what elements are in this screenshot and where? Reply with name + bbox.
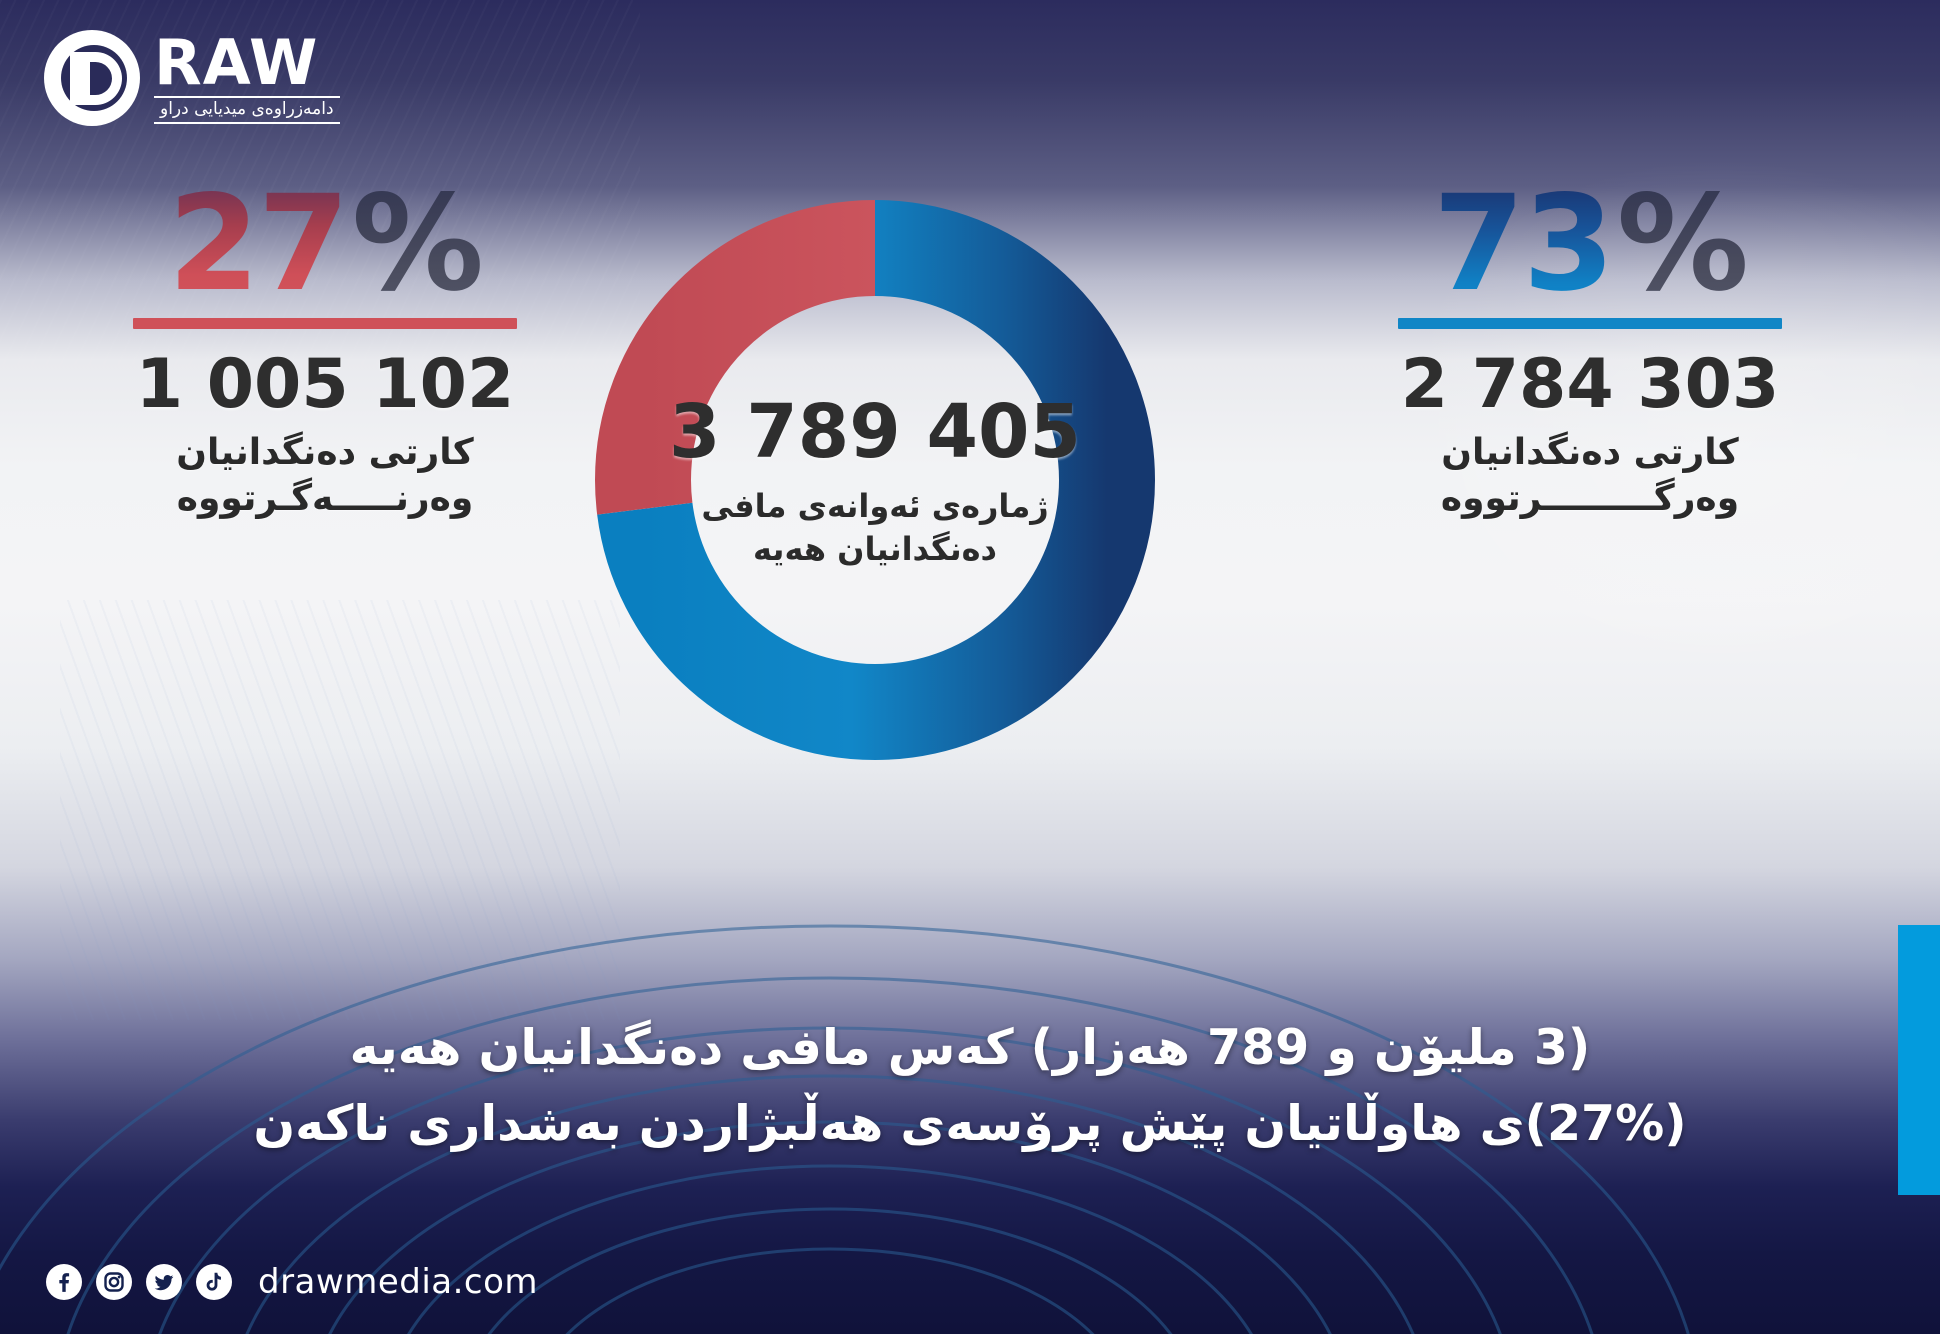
left-percent-sign: %: [352, 167, 482, 321]
donut-caption: ژمارەی ئەوانەی مافی دەنگدانیان هەیە: [701, 485, 1048, 571]
brand-subtitle: دامەزراوەی میدیایی دراو: [154, 96, 340, 123]
donut-center-label: 3 789 405 ژمارەی ئەوانەی مافی دەنگدانیان…: [585, 190, 1165, 770]
accent-bar: [1898, 925, 1940, 1195]
tiktok-icon[interactable]: [196, 1264, 232, 1300]
brand-logo: RAW دامەزراوەی میدیایی دراو: [44, 30, 340, 126]
right-caption: کارتی دەنگدانیان وەرگـــــــــرتووە: [1375, 430, 1805, 522]
stat-block-no-card: 27% 1 005 102 کارتی دەنگدانیان وەرنـــــ…: [110, 178, 540, 522]
donut-caption-line1: ژمارەی ئەوانەی مافی: [701, 487, 1048, 525]
footer: drawmedia.com: [46, 1262, 538, 1302]
website-url[interactable]: drawmedia.com: [258, 1262, 538, 1302]
headline-line-2: (27%)ی هاوڵاتیان پێش پرۆسەی هەڵبژاردن بە…: [70, 1086, 1870, 1162]
instagram-icon[interactable]: [96, 1264, 132, 1300]
left-caption: کارتی دەنگدانیان وەرنـــــەگـرتووە: [110, 430, 540, 522]
right-count: 2 784 303: [1375, 345, 1805, 424]
twitter-icon[interactable]: [146, 1264, 182, 1300]
headline-line-1: (3 ملیۆن و 789 هەزار) کەس مافی دەنگدانیا…: [70, 1010, 1870, 1086]
left-count: 1 005 102: [110, 345, 540, 424]
right-caption-line2: وەرگـــــــــرتووە: [1441, 478, 1739, 519]
donut-chart: 3 789 405 ژمارەی ئەوانەی مافی دەنگدانیان…: [585, 190, 1165, 770]
left-percent-row: 27%: [110, 178, 540, 310]
stat-block-has-card: 73% 2 784 303 کارتی دەنگدانیان وەرگـــــ…: [1375, 178, 1805, 522]
left-caption-line1: کارتی دەنگدانیان: [176, 432, 473, 473]
left-caption-line2: وەرنـــــەگـرتووە: [177, 478, 474, 519]
facebook-icon[interactable]: [46, 1264, 82, 1300]
left-percent-value: 27: [168, 167, 348, 321]
right-caption-line1: کارتی دەنگدانیان: [1441, 432, 1738, 473]
right-percent-sign: %: [1617, 167, 1747, 321]
headline: (3 ملیۆن و 789 هەزار) کەس مافی دەنگدانیا…: [70, 1010, 1870, 1162]
background-texture-lower: [60, 600, 620, 1020]
right-percent-value: 73: [1433, 167, 1613, 321]
d-circle-logo-icon: [44, 30, 140, 126]
donut-caption-line2: دەنگدانیان هەیە: [753, 530, 997, 568]
infographic-canvas: RAW دامەزراوەی میدیایی دراو 27% 1 005 10…: [0, 0, 1940, 1334]
right-percent-row: 73%: [1375, 178, 1805, 310]
brand-wordmark: RAW: [154, 34, 318, 93]
donut-total-value: 3 789 405: [669, 389, 1081, 475]
